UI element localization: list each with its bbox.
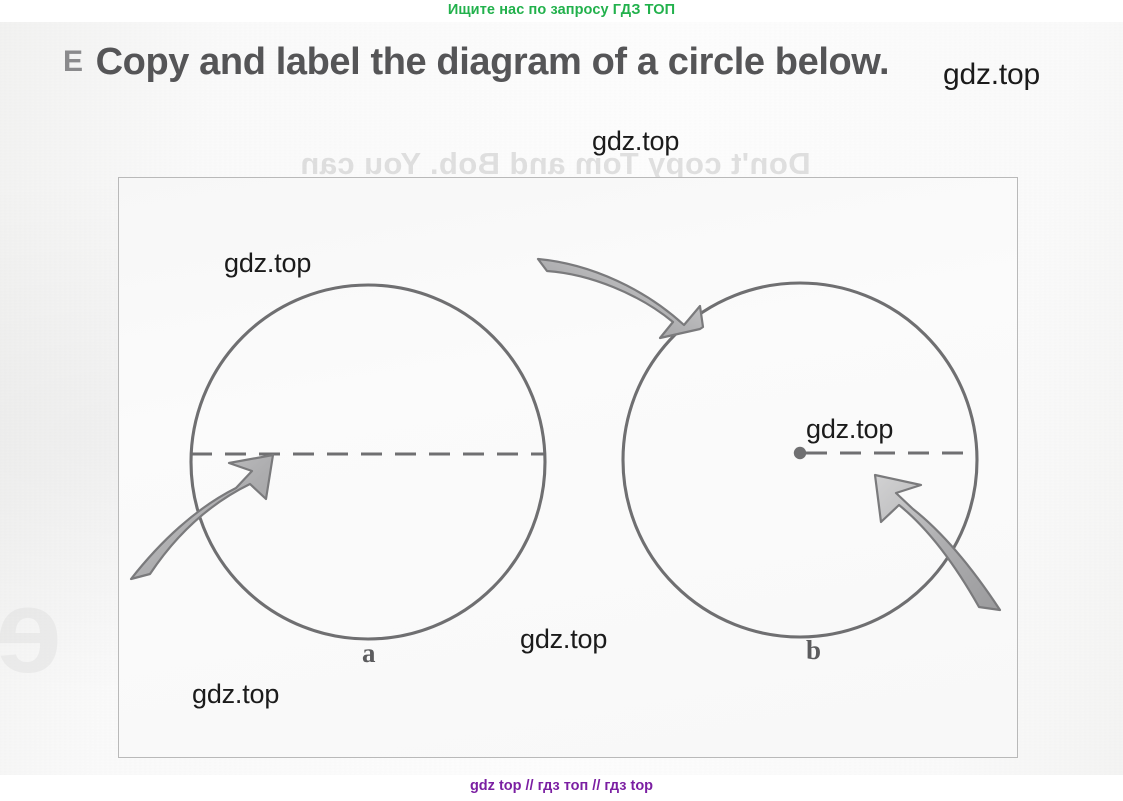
showthrough-glyph-e: e <box>0 562 62 700</box>
exercise-letter: E <box>63 45 83 78</box>
watermark-gdz-top-3: gdz.top <box>224 248 311 279</box>
promo-bottom-middle: гдз топ <box>538 778 589 794</box>
scanned-worksheet-page: Ищите нас по запросу ГДЗ ТОП Don't copy … <box>0 0 1123 801</box>
scanned-paper-area: Don't copy Tom and Bob. You can get into… <box>0 22 1123 775</box>
circle-b-label: b <box>806 635 821 666</box>
exercise-instruction: Copy and label the diagram of a circle b… <box>96 41 890 83</box>
watermark-gdz-top-1: gdz.top <box>943 58 1040 92</box>
page-title: ECopy and label the diagram of a circle … <box>63 36 1073 90</box>
watermark-gdz-top-6: gdz.top <box>192 679 279 710</box>
watermark-gdz-top-5: gdz.top <box>520 624 607 655</box>
promo-bottom-right: гдз top <box>604 778 653 794</box>
circle-a-label: a <box>362 638 376 669</box>
watermark-gdz-top-2: gdz.top <box>592 126 679 157</box>
promo-separator-1: // <box>526 778 534 794</box>
promo-banner-bottom: gdz top // гдз топ // гдз top <box>0 778 1123 794</box>
promo-bottom-left: gdz top <box>470 778 522 794</box>
promo-separator-2: // <box>592 778 600 794</box>
promo-banner-top: Ищите нас по запросу ГДЗ ТОП <box>0 2 1123 18</box>
watermark-gdz-top-4: gdz.top <box>806 414 893 445</box>
